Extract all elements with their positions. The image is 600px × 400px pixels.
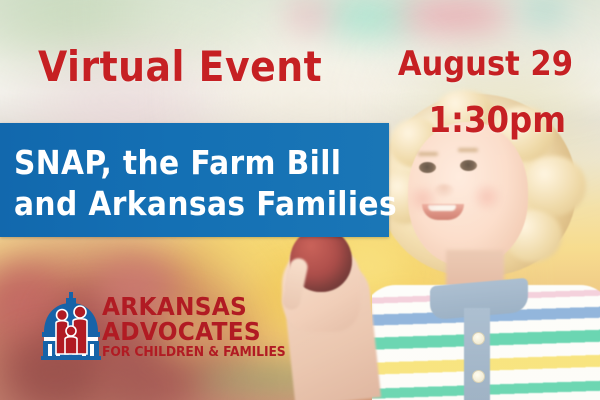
event-title-line-2: and Arkansas Families (14, 187, 397, 220)
capitol-dome-with-family-icon (40, 292, 102, 360)
logo-line-advocates: ADVOCATES (102, 319, 274, 344)
shirt-button (472, 370, 485, 383)
event-title-banner: SNAP, the Farm Bill and Arkansas Familie… (0, 123, 389, 237)
logo-tagline: FOR CHILDREN & FAMILIES (102, 346, 278, 360)
child-brow-left (418, 152, 438, 156)
hair-curl (522, 156, 586, 216)
child-brow-right (458, 148, 478, 152)
event-title-line-1: SNAP, the Farm Bill (14, 146, 341, 179)
organization-logo: ARKANSAS ADVOCATES FOR CHILDREN & FAMILI… (40, 292, 285, 362)
event-promo-graphic: Virtual Event August 29 1:30pm SNAP, the… (0, 0, 600, 400)
logo-wordmark: ARKANSAS ADVOCATES FOR CHILDREN & FAMILI… (102, 294, 287, 360)
child-eye-right (460, 160, 477, 171)
child-cheek-right (470, 184, 504, 210)
bg-blob-teal-label (520, 0, 566, 26)
child-eye-left (419, 162, 436, 173)
shirt-button (472, 332, 485, 345)
logo-line-arkansas: ARKANSAS (102, 294, 274, 319)
event-date: August 29 (398, 47, 573, 81)
child-cheek-left (406, 186, 440, 212)
page-title: Virtual Event (38, 46, 322, 88)
shirt-placket (464, 308, 490, 400)
event-time: 1:30pm (429, 103, 567, 139)
